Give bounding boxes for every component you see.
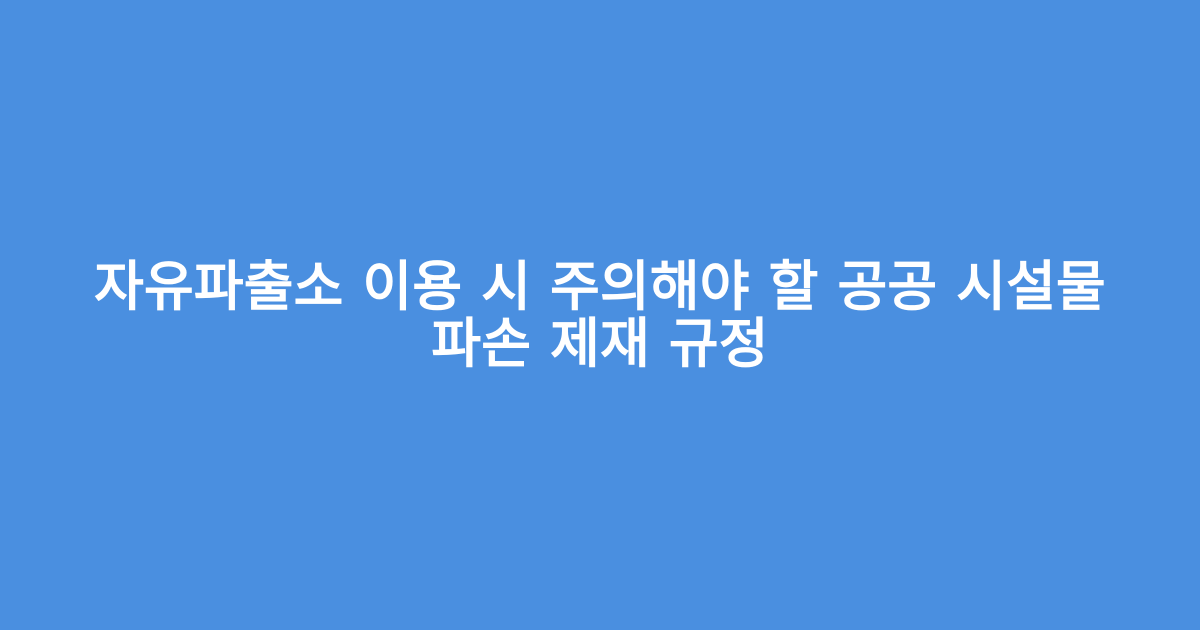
page-title: 자유파출소 이용 시 주의해야 할 공공 시설물 파손 제재 규정 <box>90 258 1110 372</box>
social-share-card: 자유파출소 이용 시 주의해야 할 공공 시설물 파손 제재 규정 <box>0 0 1200 630</box>
title-block: 자유파출소 이용 시 주의해야 할 공공 시설물 파손 제재 규정 <box>70 258 1130 372</box>
